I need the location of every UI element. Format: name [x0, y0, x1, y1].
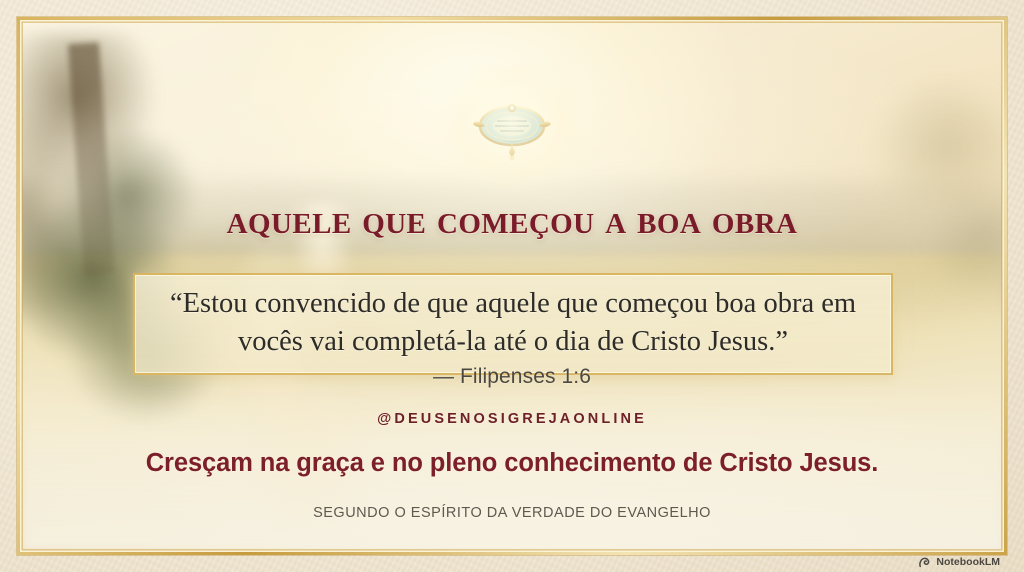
- page-title: Aquele que começou a boa obra: [0, 195, 1024, 243]
- scripture-quote-text: “Estou convencido de que aquele que come…: [153, 285, 873, 361]
- slide-canvas: Aquele que começou a boa obra “Estou con…: [0, 0, 1024, 572]
- scripture-quote-box: “Estou convencido de que aquele que come…: [133, 273, 893, 375]
- ornate-seal-emblem: [469, 96, 555, 164]
- notebooklm-label: NotebookLM: [936, 556, 1000, 568]
- exhortation-tagline: Cresçam na graça e no pleno conhecimento…: [0, 449, 1024, 478]
- footer-caption: SEGUNDO O ESPÍRITO DA VERDADE DO EVANGEL…: [0, 505, 1024, 521]
- scripture-reference: — Filipenses 1:6: [0, 365, 1024, 389]
- notebooklm-watermark: NotebookLM: [919, 556, 1000, 568]
- notebooklm-logo-icon: [919, 557, 932, 568]
- social-handle: @DEUSENOSIGREJAONLINE: [0, 411, 1024, 427]
- emblem-container: [0, 96, 1024, 164]
- slide-content: Aquele que começou a boa obra “Estou con…: [0, 0, 1024, 572]
